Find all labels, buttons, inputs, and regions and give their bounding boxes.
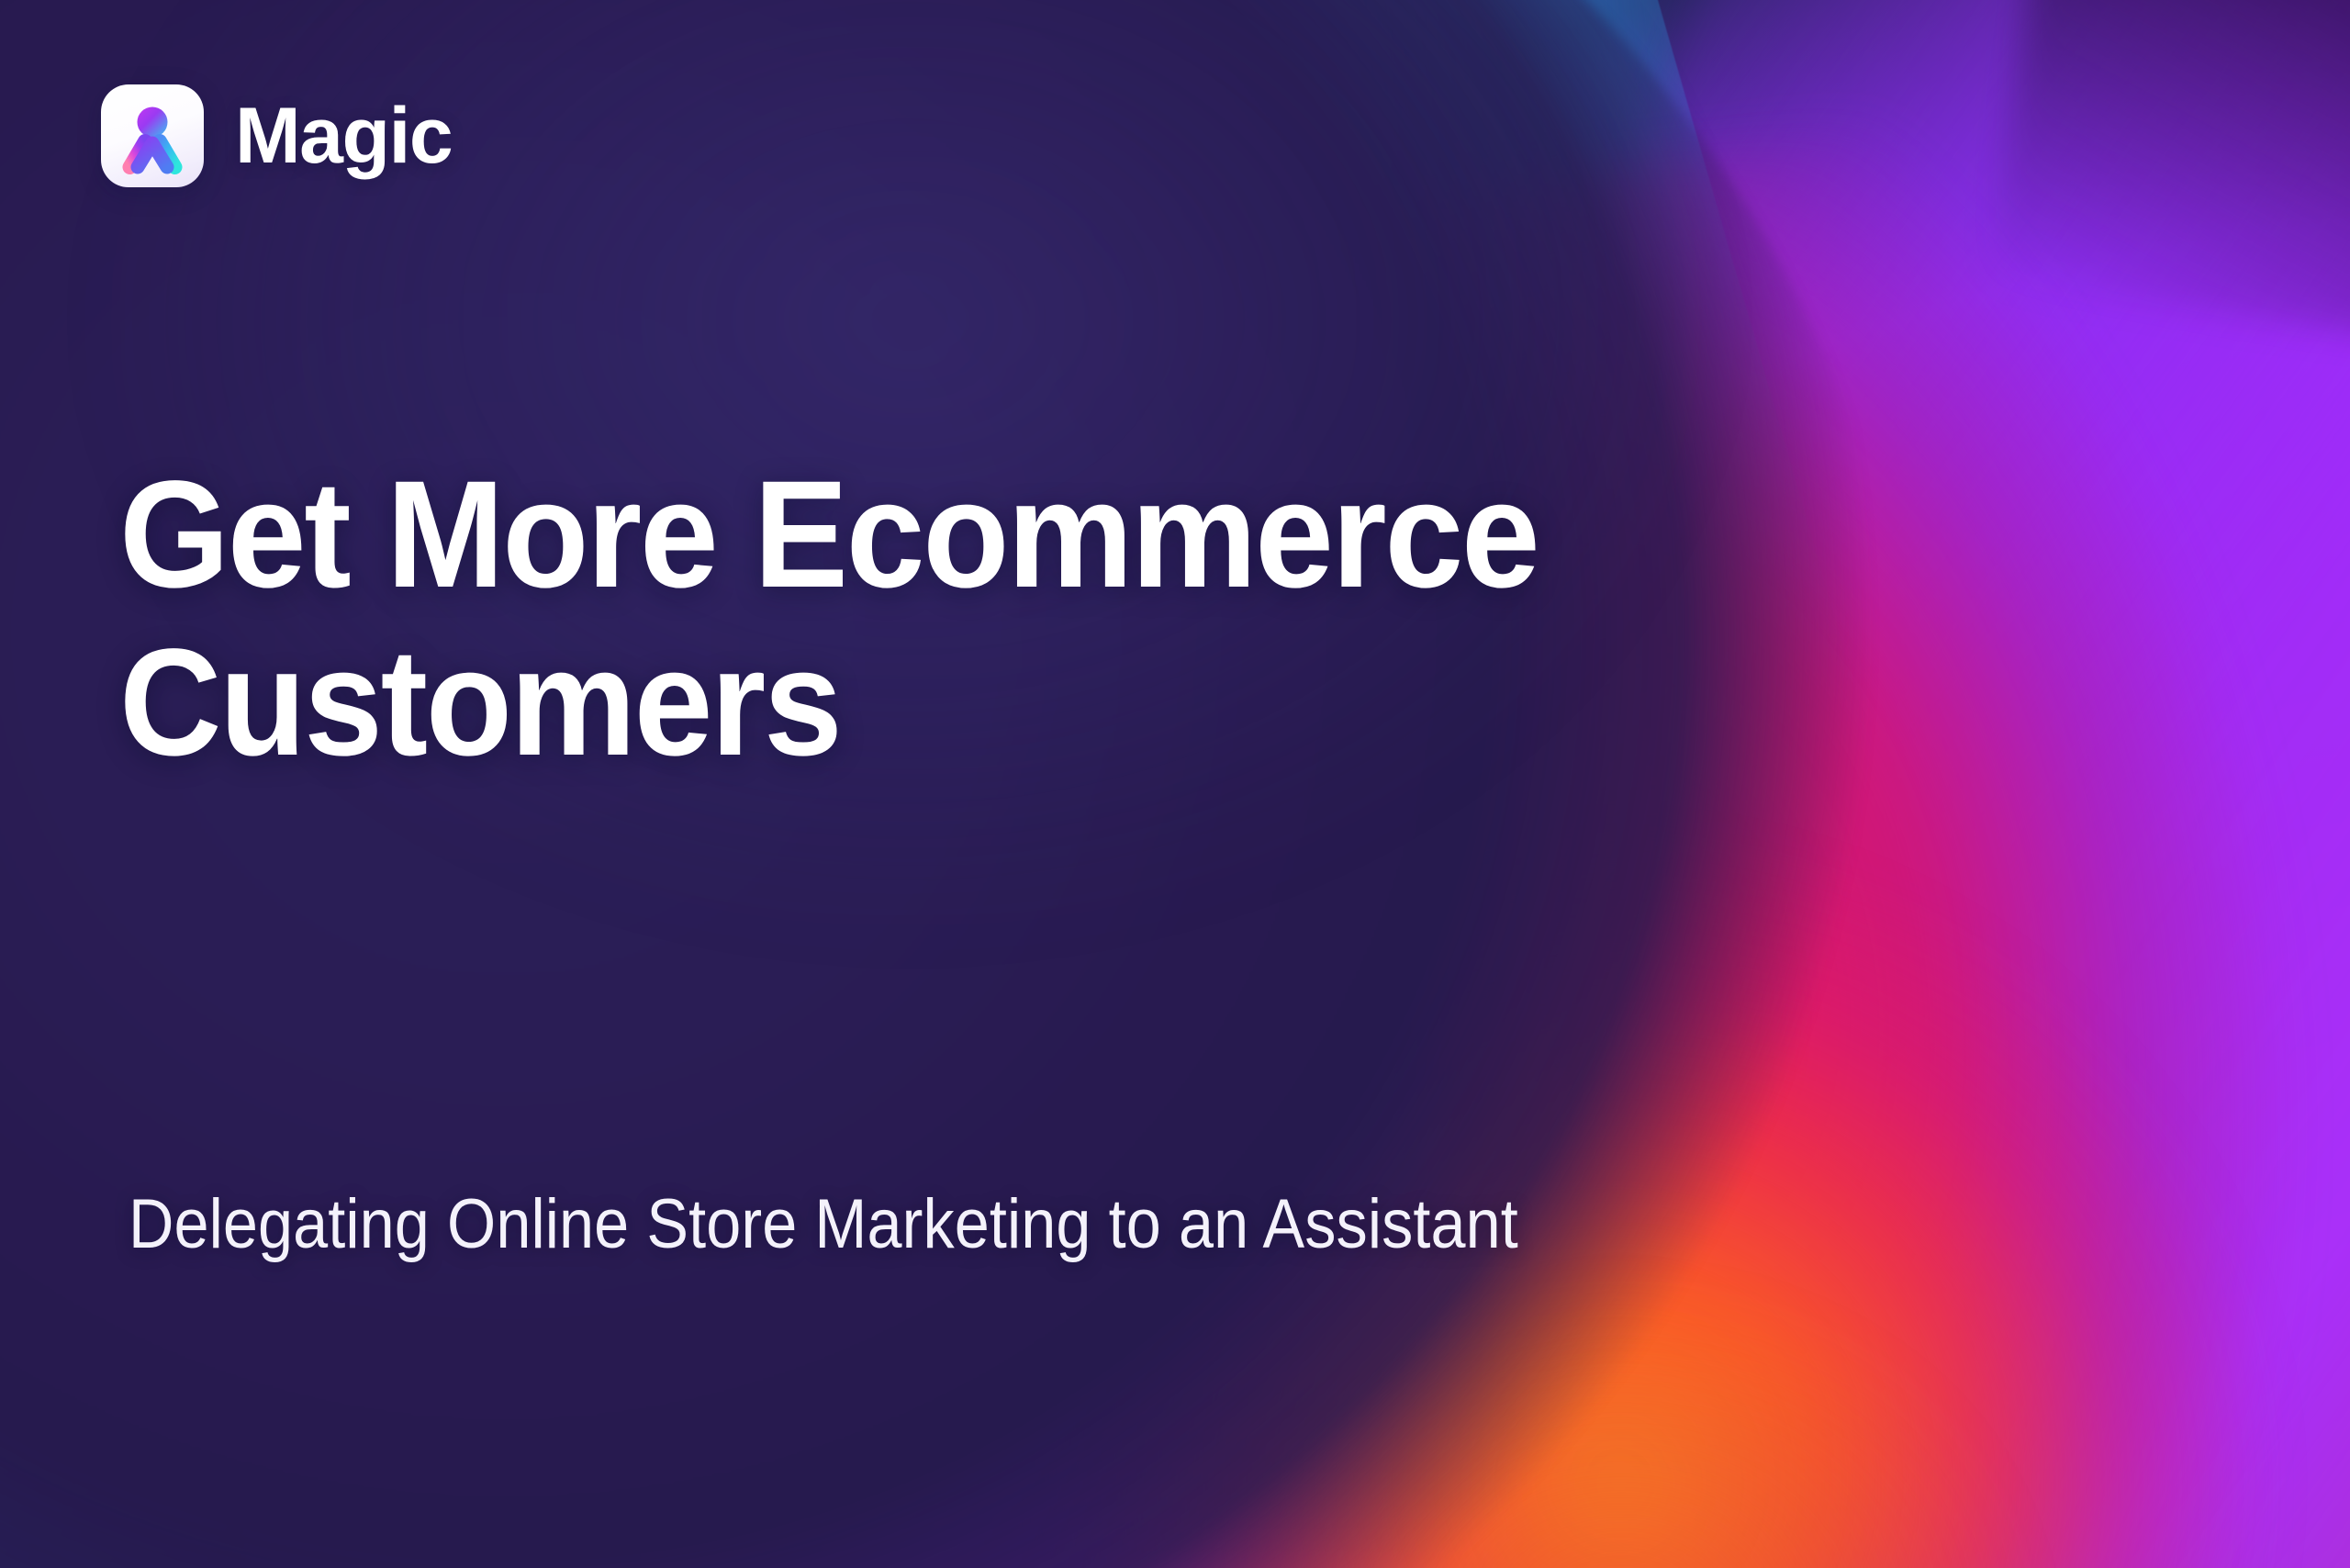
- brand-logo-lockup[interactable]: Magic: [101, 84, 452, 187]
- magic-logo-icon: [101, 84, 204, 187]
- hero-slide: Magic Get More Ecommerce Customers Deleg…: [0, 0, 2350, 1568]
- hero-content: Magic Get More Ecommerce Customers Deleg…: [0, 0, 2350, 1568]
- page-title: Get More Ecommerce Customers: [119, 452, 1980, 787]
- page-subtitle: Delegating Online Store Marketing to an …: [129, 1182, 1518, 1266]
- brand-name: Magic: [235, 96, 452, 175]
